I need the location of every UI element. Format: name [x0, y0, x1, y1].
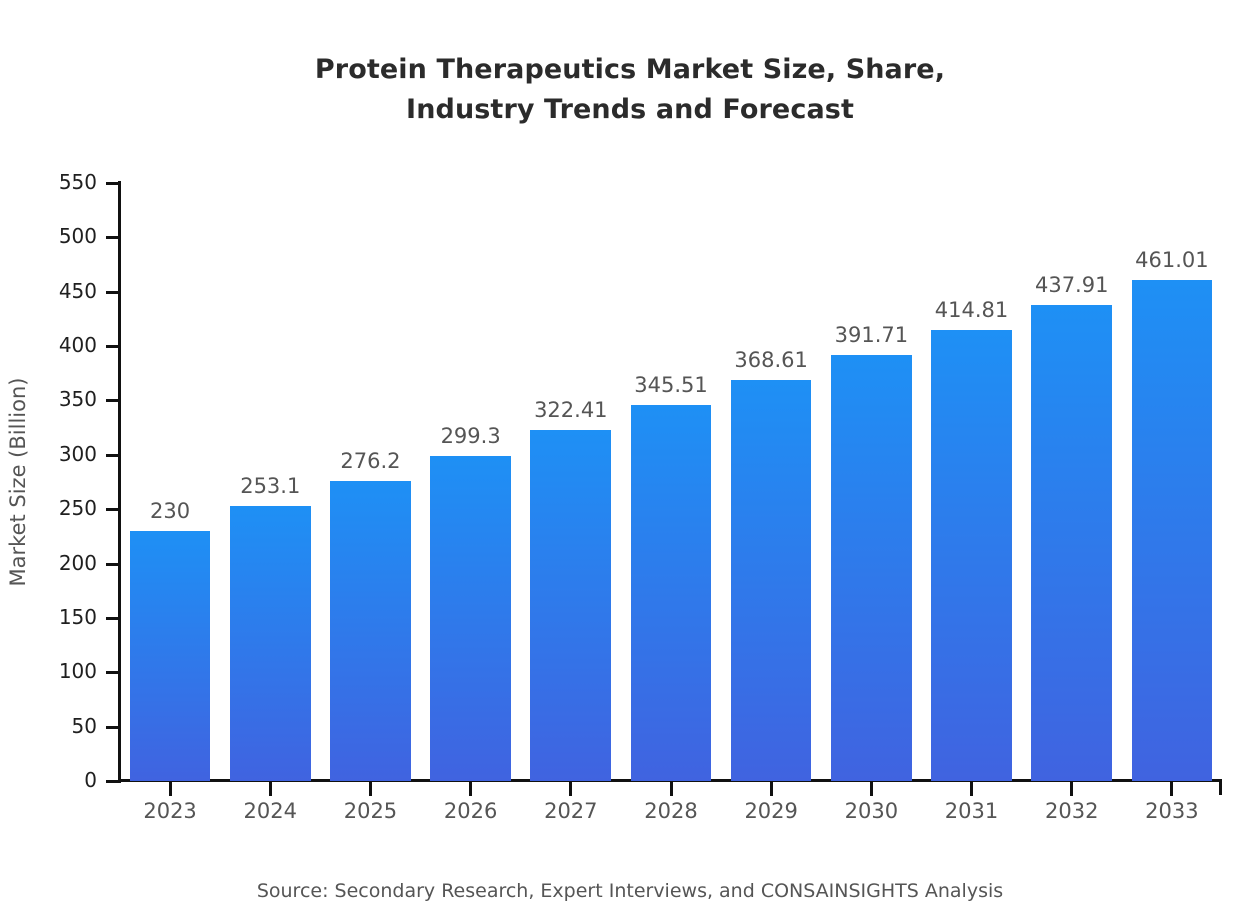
bar-2024[interactable]: [230, 506, 311, 781]
y-tick-500: [106, 236, 119, 239]
plot-area: 230253.1276.2299.3322.41345.51368.61391.…: [120, 183, 1222, 781]
y-tick-label-200: 200: [7, 553, 97, 573]
y-tick-label-150: 150: [7, 607, 97, 627]
x-tick-2028: [670, 782, 673, 796]
bar-2028[interactable]: [631, 405, 712, 781]
bar-value-label-2027: 322.41: [491, 398, 651, 422]
chart-title: Protein Therapeutics Market Size, Share,…: [0, 50, 1260, 130]
bar-2031[interactable]: [931, 330, 1012, 781]
bar-2030[interactable]: [831, 355, 912, 781]
y-tick-150: [106, 617, 119, 620]
bar-2025[interactable]: [330, 481, 411, 781]
x-tick-2032: [1070, 782, 1073, 796]
chart-figure: Protein Therapeutics Market Size, Share,…: [0, 0, 1260, 920]
y-tick-label-300: 300: [7, 444, 97, 464]
y-tick-350: [106, 399, 119, 402]
bar-value-label-2024: 253.1: [190, 474, 350, 498]
bar-value-label-2028: 345.51: [591, 373, 751, 397]
bar-value-label-2029: 368.61: [691, 348, 851, 372]
x-axis-right-cap: [1219, 779, 1222, 795]
y-tick-200: [106, 563, 119, 566]
y-tick-label-500: 500: [7, 226, 97, 246]
x-tick-2023: [169, 782, 172, 796]
y-tick-label-250: 250: [7, 498, 97, 518]
x-tick-2027: [569, 782, 572, 796]
bar-value-label-2030: 391.71: [791, 323, 951, 347]
y-tick-0: [106, 780, 119, 783]
source-note: Source: Secondary Research, Expert Inter…: [0, 878, 1260, 904]
bar-2026[interactable]: [430, 456, 511, 781]
y-tick-label-350: 350: [7, 389, 97, 409]
x-tick-2024: [269, 782, 272, 796]
y-tick-450: [106, 291, 119, 294]
bar-2029[interactable]: [731, 380, 812, 781]
bar-value-label-2023: 230: [90, 499, 250, 523]
x-tick-2031: [970, 782, 973, 796]
y-tick-300: [106, 454, 119, 457]
y-tick-label-50: 50: [7, 716, 97, 736]
bar-value-label-2026: 299.3: [391, 424, 551, 448]
bar-2023[interactable]: [130, 531, 211, 781]
x-tick-label-2033: 2033: [1102, 798, 1242, 824]
y-tick-label-0: 0: [7, 770, 97, 790]
bar-2027[interactable]: [530, 430, 611, 781]
x-tick-2030: [870, 782, 873, 796]
y-tick-100: [106, 671, 119, 674]
chart-title-line-1: Protein Therapeutics Market Size, Share,: [0, 50, 1260, 90]
bar-value-label-2032: 437.91: [992, 273, 1152, 297]
y-tick-50: [106, 726, 119, 729]
y-tick-label-400: 400: [7, 335, 97, 355]
x-tick-2029: [770, 782, 773, 796]
x-tick-2025: [369, 782, 372, 796]
bar-2032[interactable]: [1031, 305, 1112, 781]
chart-title-line-2: Industry Trends and Forecast: [0, 90, 1260, 130]
bar-value-label-2031: 414.81: [892, 298, 1052, 322]
bar-value-label-2025: 276.2: [290, 449, 450, 473]
y-tick-550: [106, 182, 119, 185]
bar-value-label-2033: 461.01: [1092, 248, 1252, 272]
y-tick-label-550: 550: [7, 172, 97, 192]
x-tick-2026: [469, 782, 472, 796]
bar-2033[interactable]: [1132, 280, 1213, 781]
y-axis-label: Market Size (Billion): [0, 167, 36, 797]
y-tick-label-450: 450: [7, 281, 97, 301]
x-tick-2033: [1170, 782, 1173, 796]
y-tick-400: [106, 345, 119, 348]
y-tick-label-100: 100: [7, 661, 97, 681]
